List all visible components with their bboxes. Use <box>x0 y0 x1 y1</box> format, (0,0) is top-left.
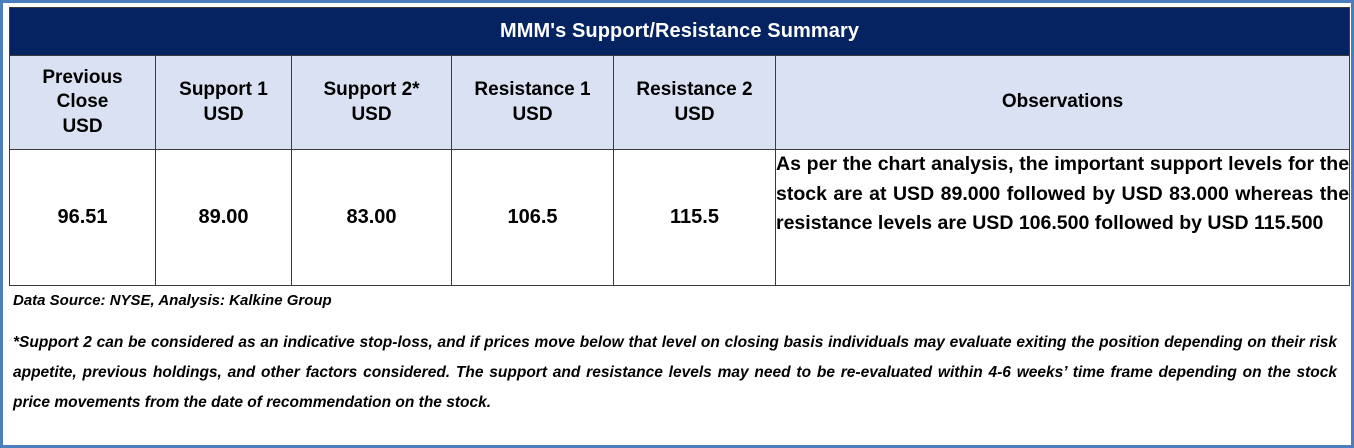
support-resistance-summary-page: MMM's Support/Resistance Summary Previou… <box>0 0 1354 448</box>
column-header-support-1: Support 1 USD <box>156 56 292 150</box>
content-wrapper: MMM's Support/Resistance Summary Previou… <box>9 7 1349 419</box>
cell-resistance-1: 106.5 <box>452 150 614 286</box>
header-line-2: Close <box>10 90 155 114</box>
support-2-disclaimer: *Support 2 can be considered as an indic… <box>9 310 1343 419</box>
table-row: 96.51 89.00 83.00 106.5 115.5 As per the… <box>10 150 1350 286</box>
column-header-resistance-2: Resistance 2 USD <box>614 56 776 150</box>
header-line-3: USD <box>10 115 155 139</box>
cell-support-1: 89.00 <box>156 150 292 286</box>
column-header-observations: Observations <box>776 56 1350 150</box>
data-source-note: Data Source: NYSE, Analysis: Kalkine Gro… <box>9 286 1349 310</box>
table-title-row: MMM's Support/Resistance Summary <box>10 8 1350 56</box>
header-line-1: Previous <box>10 66 155 90</box>
column-header-support-2: Support 2* USD <box>292 56 452 150</box>
summary-table: MMM's Support/Resistance Summary Previou… <box>9 7 1350 286</box>
column-header-previous-close: Previous Close USD <box>10 56 156 150</box>
header-line-1: Resistance 1 <box>452 78 613 102</box>
header-line-2: USD <box>452 103 613 127</box>
cell-support-2: 83.00 <box>292 150 452 286</box>
observations-text: As per the chart analysis, the important… <box>776 153 1349 234</box>
header-line-2: USD <box>614 103 775 127</box>
table-title: MMM's Support/Resistance Summary <box>10 8 1350 56</box>
header-line-1: Resistance 2 <box>614 78 775 102</box>
table-header-row: Previous Close USD Support 1 USD Support… <box>10 56 1350 150</box>
header-line-1: Support 2* <box>292 78 451 102</box>
cell-resistance-2: 115.5 <box>614 150 776 286</box>
header-line-2: USD <box>292 103 451 127</box>
cell-observations: As per the chart analysis, the important… <box>776 150 1350 286</box>
column-header-resistance-1: Resistance 1 USD <box>452 56 614 150</box>
header-line-2: USD <box>156 103 291 127</box>
cell-previous-close: 96.51 <box>10 150 156 286</box>
header-line-1: Observations <box>776 90 1349 114</box>
header-line-1: Support 1 <box>156 78 291 102</box>
